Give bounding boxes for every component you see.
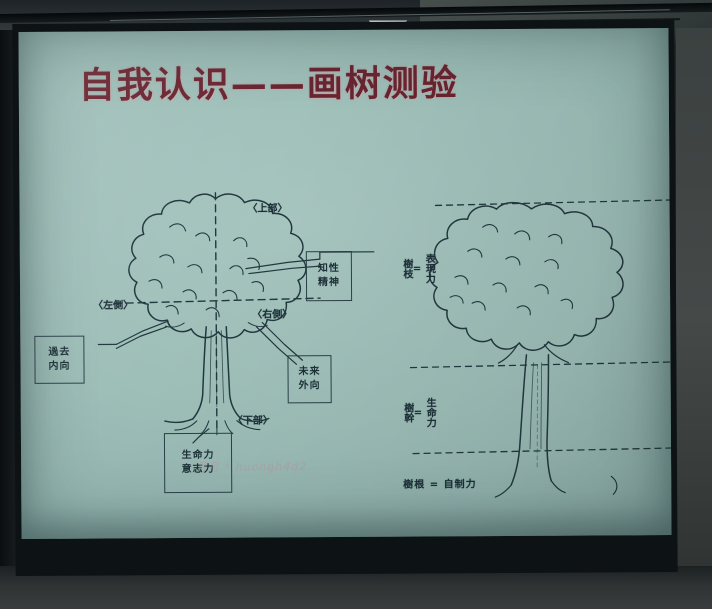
label-trunk-equals: = <box>414 406 422 419</box>
projector-photo: 自我认识——画树测验 <box>0 0 712 609</box>
label-trunk-part: 樹幹 <box>401 403 413 423</box>
label-trunk-group: 樹幹 = 生命力 <box>401 397 436 427</box>
label-roots: 樹根 = 自制力 <box>403 478 476 491</box>
callout-box-future-extrovert: 未来 外向 <box>287 355 331 403</box>
label-right-region: 〈右側〉 <box>252 308 292 321</box>
callout-line-1: 過去 <box>48 346 70 360</box>
callout-line-1: 知性 <box>318 262 340 276</box>
label-branches-meaning: 表現力 <box>422 253 434 283</box>
slide-canvas: 自我认识——画树测验 <box>18 28 671 539</box>
projector-screen: 自我认识——画树测验 <box>18 28 671 539</box>
label-trunk-meaning: 生命力 <box>423 397 435 427</box>
callout-line-2: 精神 <box>318 276 340 290</box>
label-branches-group: 樹枝 = 表現力 <box>400 253 435 283</box>
callout-line-2: 内向 <box>48 360 70 374</box>
callout-line-2: 外向 <box>299 379 321 393</box>
image-watermark: 月月 * huongh4d2 <box>196 458 307 475</box>
label-upper-region: 〈上部〉 <box>248 202 288 215</box>
wall-right <box>676 28 712 609</box>
callout-box-intellect: 知性 精神 <box>306 251 352 301</box>
label-lower-region: 〈下部〉 <box>233 414 273 427</box>
callout-line-1: 未来 <box>298 365 320 379</box>
label-branches-part: 樹枝 <box>400 259 412 279</box>
label-left-region: 〈左側〉 <box>93 299 133 312</box>
label-branches-equals: = <box>413 262 421 275</box>
callout-box-past-introvert: 過去 内向 <box>34 336 84 384</box>
